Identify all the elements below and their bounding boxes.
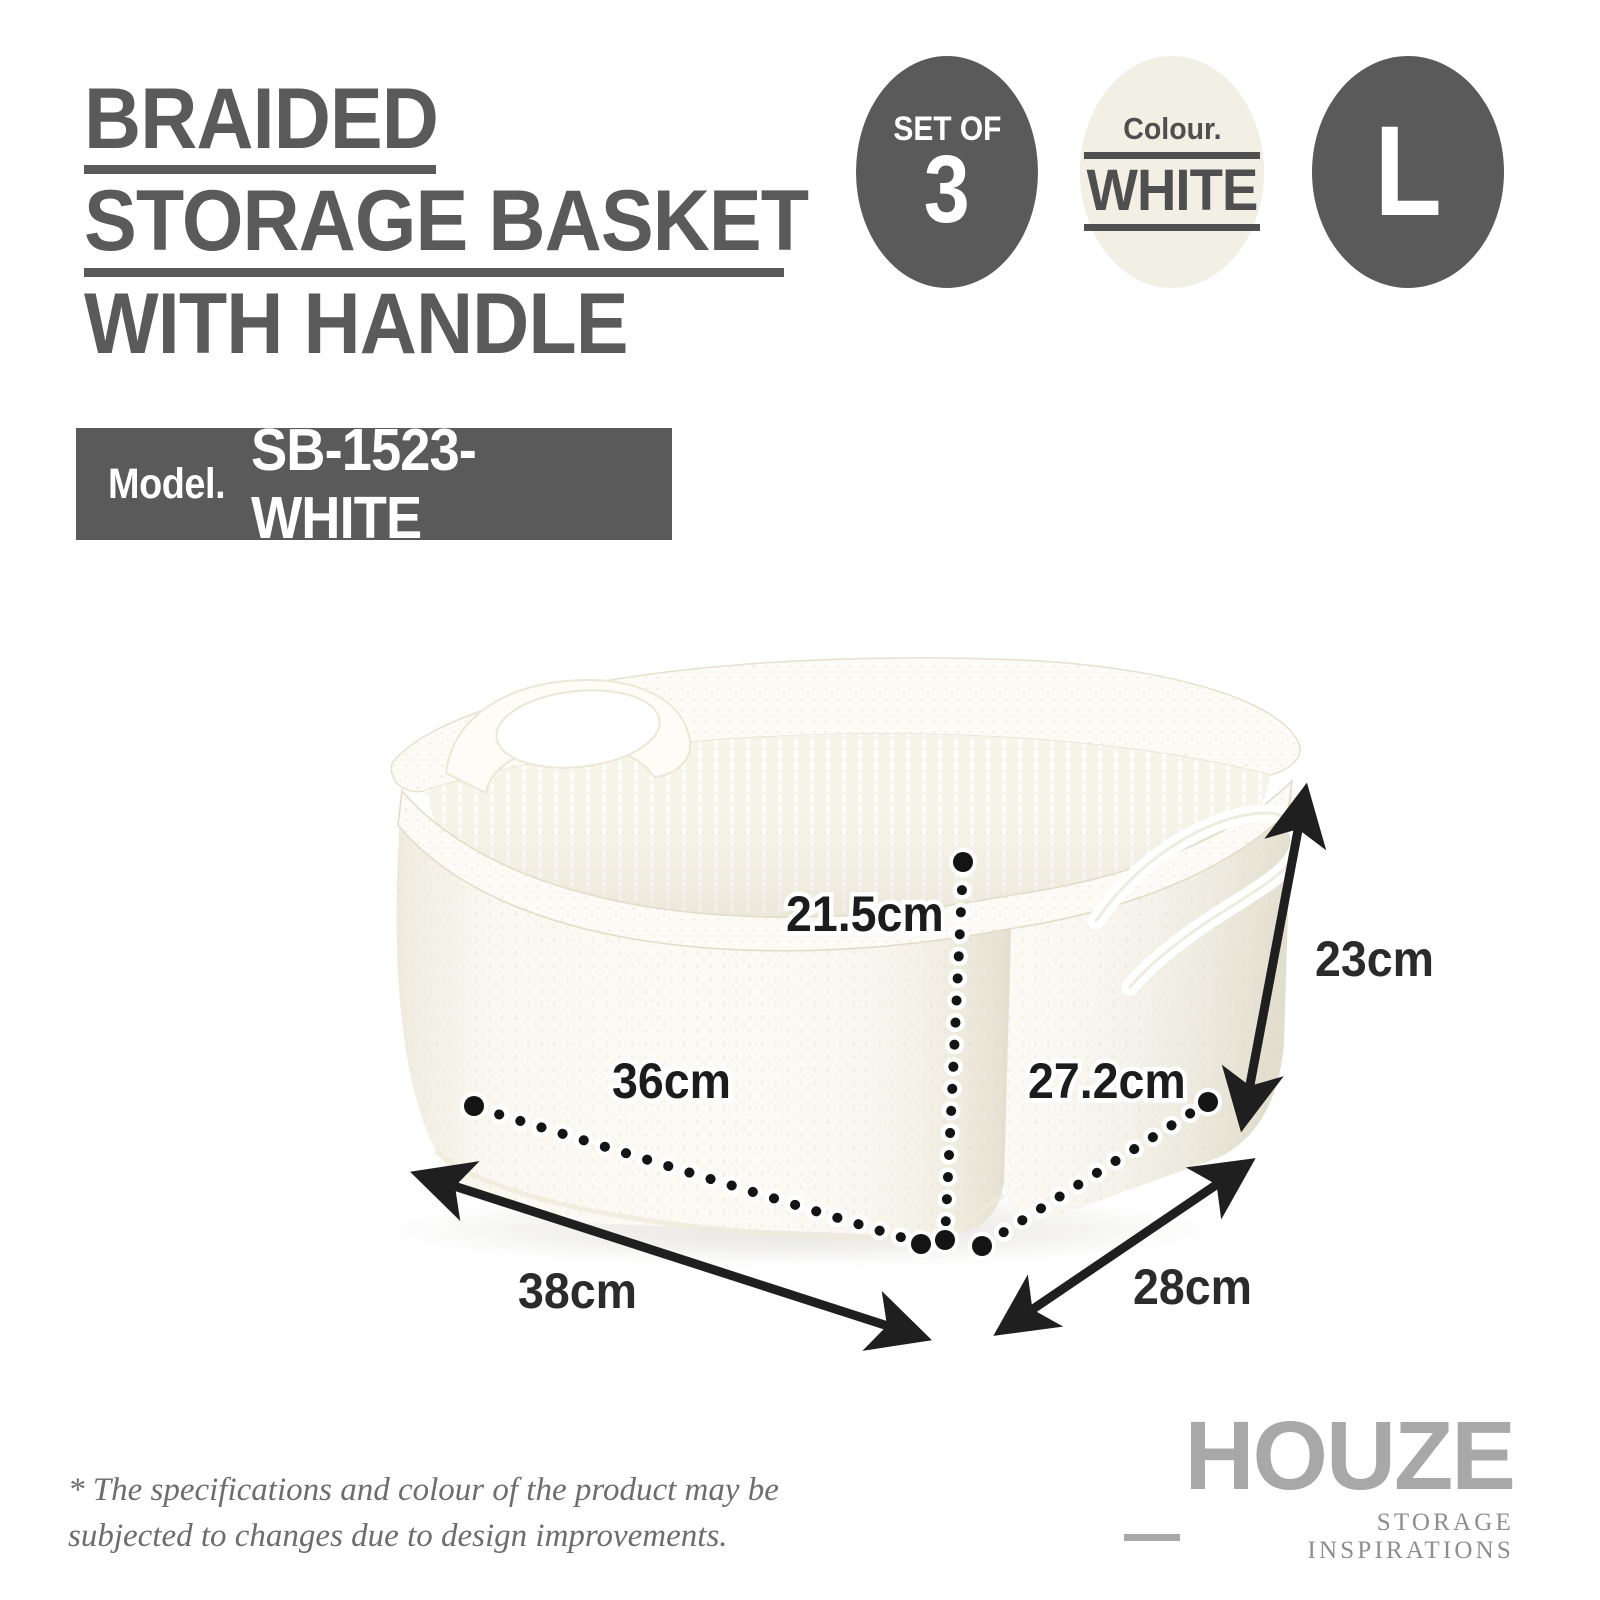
badge-set-value: 3 [924,148,970,232]
title-line-1: BRAIDED [84,78,820,161]
brand-dash-icon [1124,1534,1180,1541]
product-image [340,595,1320,1335]
title-line-2: STORAGE BASKET [84,180,820,263]
badge-size-value: L [1374,120,1441,225]
badge-colour-value-box: WHITE [1084,152,1260,230]
dimension-label-inner-depth: 27.2cm [1028,1052,1186,1110]
badge-colour: Colour. WHITE [1080,56,1264,288]
model-bar: Model. SB-1523-WHITE [76,428,672,540]
title-line-3: WITH HANDLE [84,283,820,366]
badge-size: L [1312,56,1504,288]
dimension-label-outer-depth: 28cm [1133,1258,1252,1316]
model-label: Model. [108,460,225,509]
brand-name: HOUZE [1124,1412,1514,1499]
dimension-label-outer-width: 38cm [518,1262,637,1320]
brand-logo: HOUZE STORAGE INSPIRATIONS [1124,1412,1514,1565]
dimension-label-outer-height: 23cm [1315,930,1434,988]
badge-colour-value: WHITE [1087,159,1258,223]
badge-colour-caption: Colour. [1123,113,1221,144]
product-title-block: BRAIDED STORAGE BASKET WITH HANDLE [84,78,884,366]
dimension-label-inner-height: 21.5cm [786,885,944,943]
badge-set-of: SET OF 3 [856,56,1038,288]
brand-tagline-row: STORAGE INSPIRATIONS [1124,1509,1514,1565]
badge-colour-rule-bottom [1084,224,1260,231]
model-value: SB-1523-WHITE [251,416,638,552]
disclaimer-text: * The specifications and colour of the p… [68,1468,828,1559]
badge-group: SET OF 3 Colour. WHITE L [856,56,1516,296]
brand-tagline: STORAGE INSPIRATIONS [1194,1509,1514,1565]
braided-basket-illustration [340,595,1320,1335]
dimension-label-inner-width: 36cm [612,1052,731,1110]
